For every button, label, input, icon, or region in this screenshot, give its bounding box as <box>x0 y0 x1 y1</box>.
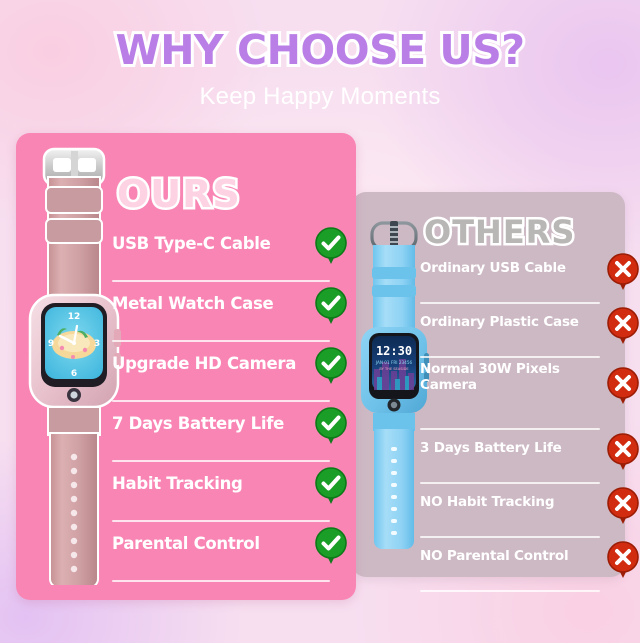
feature-label: Metal Watch Case <box>112 294 300 313</box>
list-item: 7 Days Battery Life <box>112 408 340 468</box>
cross-icon <box>606 252 640 292</box>
cross-icon <box>606 486 640 526</box>
list-item: Habit Tracking <box>112 468 340 528</box>
row-divider <box>420 482 600 484</box>
check-icon <box>314 466 348 506</box>
feature-label: NO Parental Control <box>420 549 580 565</box>
page-subtitle: Keep Happy Moments <box>0 83 640 111</box>
row-divider <box>112 280 330 282</box>
check-icon <box>314 406 348 446</box>
row-divider <box>420 356 600 358</box>
row-divider <box>420 590 600 592</box>
svg-text:9: 9 <box>48 339 54 349</box>
row-divider <box>112 340 330 342</box>
list-item: USB Type-C Cable <box>112 228 340 288</box>
row-divider <box>112 520 330 522</box>
check-icon <box>314 526 348 566</box>
list-item: Parental Control <box>112 528 340 588</box>
feature-label: USB Type-C Cable <box>112 234 300 253</box>
others-heading: OTHERS <box>424 213 575 251</box>
ours-watch-image: 12 6 9 3 <box>24 143 124 585</box>
list-item: NO Habit Tracking <box>420 490 612 544</box>
page-header: WHY CHOOSE US? Keep Happy Moments <box>0 0 640 111</box>
svg-text:6: 6 <box>71 369 77 379</box>
feature-label: Ordinary Plastic Case <box>420 315 580 331</box>
feature-label: Upgrade HD Camera <box>112 354 300 373</box>
cross-icon <box>606 366 640 406</box>
check-icon <box>314 286 348 326</box>
list-item: 3 Days Battery Life <box>420 436 612 490</box>
feature-label: Normal 30W Pixels Camera <box>420 362 580 393</box>
feature-label: Parental Control <box>112 534 300 553</box>
list-item: Ordinary Plastic Case <box>420 310 612 364</box>
cross-icon <box>606 540 640 580</box>
others-feature-list: Ordinary USB Cable Ordinary Plastic Case… <box>420 256 612 598</box>
row-divider <box>420 428 600 430</box>
list-item: Metal Watch Case <box>112 288 340 348</box>
svg-text:BY THE SEASIDE: BY THE SEASIDE <box>379 367 409 371</box>
row-divider <box>112 400 330 402</box>
row-divider <box>420 536 600 538</box>
check-icon <box>314 226 348 266</box>
list-item: Upgrade HD Camera <box>112 348 340 408</box>
ours-heading: OURS <box>117 172 241 216</box>
svg-text:3: 3 <box>94 339 100 349</box>
feature-label: 7 Days Battery Life <box>112 414 300 433</box>
check-icon <box>314 346 348 386</box>
list-item: Ordinary USB Cable <box>420 256 612 310</box>
row-divider <box>420 302 600 304</box>
feature-label: Habit Tracking <box>112 474 300 493</box>
svg-text:12:30: 12:30 <box>376 344 412 358</box>
page-title: WHY CHOOSE US? <box>0 26 640 74</box>
feature-label: 3 Days Battery Life <box>420 441 580 457</box>
ours-feature-list: USB Type-C Cable Metal Watch Case Upgrad… <box>112 228 340 588</box>
list-item: Normal 30W Pixels Camera <box>420 364 612 436</box>
svg-text:12: 12 <box>68 312 81 322</box>
list-item: NO Parental Control <box>420 544 612 598</box>
feature-label: Ordinary USB Cable <box>420 261 580 277</box>
feature-label: NO Habit Tracking <box>420 495 580 511</box>
cross-icon <box>606 306 640 346</box>
cross-icon <box>606 432 640 472</box>
row-divider <box>112 460 330 462</box>
row-divider <box>112 580 330 582</box>
svg-text:JAN 01 FRI 23456: JAN 01 FRI 23456 <box>375 360 413 365</box>
